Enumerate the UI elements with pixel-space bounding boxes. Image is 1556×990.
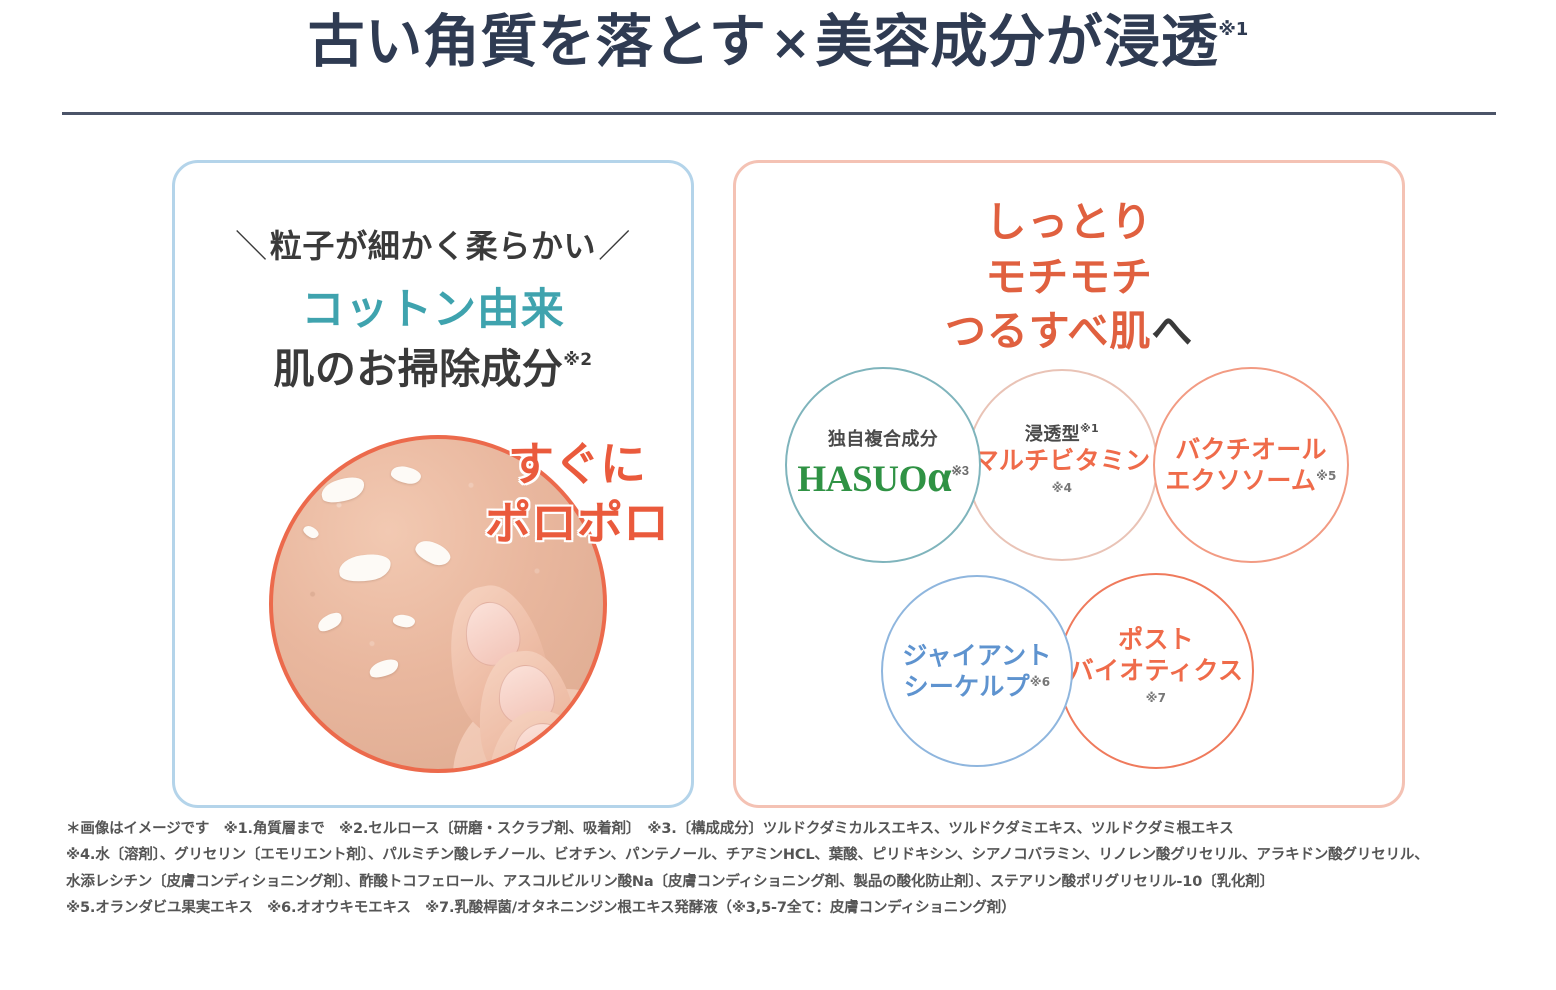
- sea-kelp-line-2-text: シーケルプ: [904, 672, 1030, 701]
- ingredient-bubble-hasuo: 独自複合成分 HASUOα※3: [785, 367, 981, 563]
- multivitamin-sublabel-footnote-marker: ※1: [1080, 422, 1099, 435]
- instant-peeling-line-2: ポロポロ: [485, 494, 669, 553]
- title-divider: [62, 112, 1496, 115]
- ingredient-bubble-multivitamin: 浸透型※1 マルチビタミン※4: [966, 369, 1158, 561]
- postbiotics-line-2-text: バイオティクス: [1069, 656, 1244, 685]
- footnote-line-2: ※4.水〔溶剤〕、グリセリン〔エモリエント剤〕、パルミチン酸レチノール、ビオチン…: [66, 842, 1516, 868]
- multivitamin-name-text: マルチビタミン: [974, 446, 1151, 475]
- cotton-origin-label: コットン由来: [175, 275, 691, 337]
- title-part-2: 美容成分が浸透: [815, 9, 1218, 75]
- hasuo-footnote-marker: ※3: [951, 463, 968, 478]
- multivitamin-sublabel-text: 浸透型: [1025, 424, 1080, 445]
- skin-cleansing-text: 肌のお掃除成分: [273, 345, 563, 393]
- bakuchiol-line-2: エクソソーム※5: [1165, 465, 1336, 497]
- skin-cleansing-footnote-marker: ※2: [563, 350, 592, 370]
- hasuo-alpha-symbol: α: [927, 452, 951, 501]
- heading-line-1: しっとり: [736, 195, 1402, 250]
- hasuo-name: HASUOα※3: [797, 453, 968, 501]
- ingredient-bubble-bakuchiol-exosome: バクチオール エクソソーム※5: [1153, 367, 1349, 563]
- postbiotics-line-1: ポスト: [1118, 624, 1194, 656]
- page-title: 古い角質を落とす×美容成分が浸透※1: [0, 8, 1556, 76]
- ingredient-bubble-postbiotics: ポスト バイオティクス※7: [1058, 573, 1254, 769]
- sea-kelp-line-2: シーケルプ※6: [904, 671, 1051, 703]
- title-part-1: 古い角質を落とす: [308, 9, 767, 75]
- heading-line-2: モチモチ: [736, 250, 1402, 305]
- page-title-text: 古い角質を落とす×美容成分が浸透※1: [308, 8, 1249, 76]
- hasuo-sublabel: 独自複合成分: [828, 429, 938, 451]
- lead-label: 粒子が細かく柔らかい: [270, 227, 596, 265]
- sea-kelp-footnote-marker: ※6: [1030, 675, 1051, 689]
- fingernail: [513, 722, 573, 773]
- bakuchiol-footnote-marker: ※5: [1316, 469, 1337, 483]
- title-footnote-marker: ※1: [1218, 19, 1248, 40]
- footnotes: ＊画像はイメージです ※1.角質層まで ※2.セルロース〔研磨・スクラブ剤、吸着…: [66, 816, 1516, 922]
- bakuchiol-line-2-text: エクソソーム: [1165, 466, 1316, 495]
- heading-line-3: つるすべ肌へ: [736, 304, 1402, 359]
- ingredient-bubble-giant-sea-kelp: ジャイアント シーケルプ※6: [881, 575, 1073, 767]
- footnote-line-1: ＊画像はイメージです ※1.角質層まで ※2.セルロース〔研磨・スクラブ剤、吸着…: [66, 816, 1516, 842]
- bakuchiol-line-1: バクチオール: [1175, 434, 1327, 466]
- footnote-line-3: 水添レシチン〔皮膚コンディショニング剤〕、酢酸トコフェロール、アスコルビルリン酸…: [66, 869, 1516, 895]
- footnote-line-4: ※5.オランダビユ果実エキス ※6.オオウキモエキス ※7.乳酸桿菌/オタネニン…: [66, 895, 1516, 921]
- title-multiply-icon: ×: [767, 15, 816, 71]
- instant-peeling-line-1: すぐに: [485, 435, 669, 494]
- heading-line-3-tail: へ: [1151, 307, 1193, 355]
- left-panel: ＼粒子が細かく柔らかい／ コットン由来 肌のお掃除成分※2 すぐに ポロポロ: [172, 160, 694, 808]
- postbiotics-line-2: バイオティクス※7: [1060, 655, 1252, 718]
- multivitamin-footnote-marker: ※4: [1052, 481, 1073, 495]
- skin-cleansing-label: 肌のお掃除成分※2: [175, 335, 691, 395]
- right-panel-heading: しっとり モチモチ つるすべ肌へ: [736, 195, 1402, 359]
- right-panel: しっとり モチモチ つるすべ肌へ 独自複合成分 HASUOα※3 浸透型※1 マ…: [733, 160, 1405, 808]
- left-lead-text: ＼粒子が細かく柔らかい／: [175, 221, 691, 267]
- multivitamin-sublabel: 浸透型※1: [1025, 422, 1099, 446]
- lead-slash-right: ／: [596, 221, 633, 267]
- sea-kelp-line-1: ジャイアント: [902, 640, 1051, 672]
- heading-line-3-text: つるすべ肌: [945, 307, 1151, 355]
- lead-slash-left: ＼: [233, 221, 270, 267]
- postbiotics-footnote-marker: ※7: [1146, 691, 1167, 705]
- instant-peeling-callout: すぐに ポロポロ: [485, 435, 669, 553]
- promo-page: 古い角質を落とす×美容成分が浸透※1 ＼粒子が細かく柔らかい／ コットン由来 肌…: [0, 0, 1556, 990]
- hasuo-name-text: HASUO: [797, 459, 927, 500]
- multivitamin-name: マルチビタミン※4: [968, 445, 1156, 508]
